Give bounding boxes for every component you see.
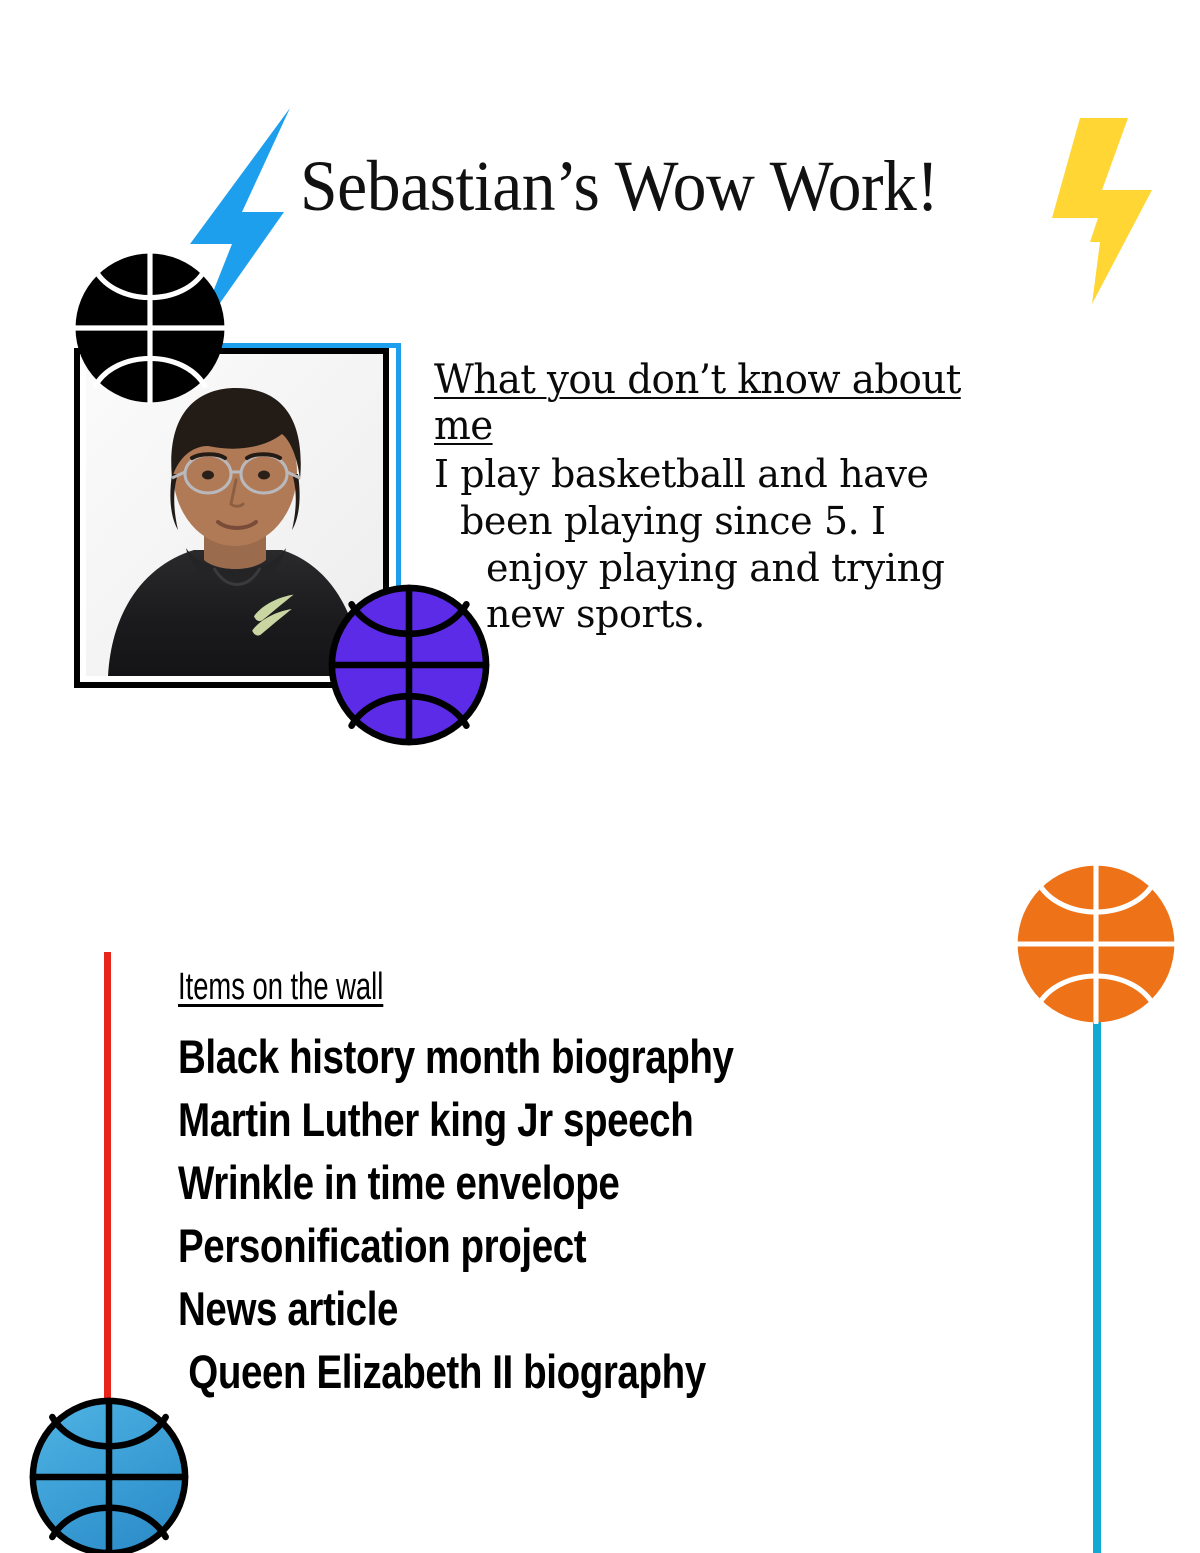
about-me-body-line-1: I play basketball and have <box>434 451 1094 498</box>
list-item: Martin Luther king Jr speech <box>178 1089 859 1152</box>
lightning-bolt-icon-yellow <box>1040 112 1158 310</box>
about-me-body-line-3: enjoy playing and trying <box>434 545 1094 592</box>
list-item: Wrinkle in time envelope <box>178 1152 859 1215</box>
items-on-the-wall-section: Items on the wall Black history month bi… <box>178 968 1008 1404</box>
about-me-heading-line-1: What you don’t know about <box>434 357 961 403</box>
page-title: Sebastian’s Wow Work! <box>300 150 996 222</box>
about-me-heading-line-2: me <box>434 403 493 449</box>
items-on-the-wall-heading: Items on the wall <box>178 968 776 1006</box>
poster-page: Sebastian’s Wow Work! <box>0 0 1200 1553</box>
items-on-the-wall-list: Black history month biography Martin Lut… <box>178 1026 1008 1404</box>
about-me-body-line-4: new sports. <box>434 591 1094 638</box>
about-me-heading: What you don’t know about me <box>434 358 1074 449</box>
basketball-icon-blue <box>28 1396 190 1553</box>
basketball-icon-black <box>74 252 226 404</box>
vertical-line-cyan <box>1093 935 1101 1553</box>
list-item: Black history month biography <box>178 1026 859 1089</box>
about-me-body: I play basketball and have been playing … <box>434 451 1094 638</box>
list-item: News article <box>178 1278 859 1341</box>
about-me-body-line-2: been playing since 5. I <box>434 498 1094 545</box>
basketball-icon-orange <box>1016 864 1176 1024</box>
list-item: Personification project <box>178 1215 859 1278</box>
about-me-section: What you don’t know about me I play bask… <box>434 358 1094 638</box>
list-item: Queen Elizabeth II biography <box>178 1341 859 1404</box>
